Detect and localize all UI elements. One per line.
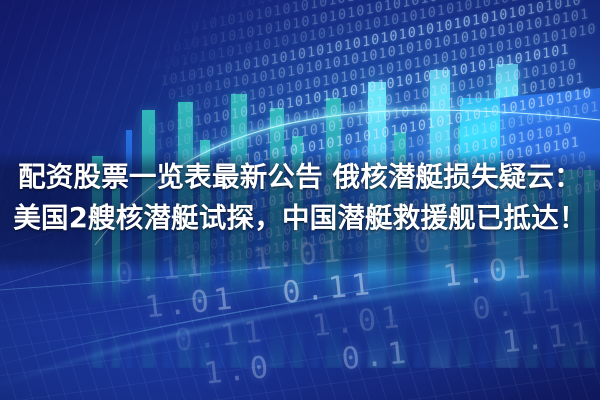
chart-bar	[112, 310, 120, 368]
chart-bar	[562, 310, 578, 368]
binary-row: 0101010101010101010101010101010101010101…	[158, 0, 600, 11]
chart-bar	[92, 310, 103, 368]
chart-bar	[584, 310, 595, 368]
chart-bar	[200, 310, 210, 368]
chart-bar	[231, 310, 247, 368]
chart-bar	[311, 310, 319, 368]
chart-bar	[254, 310, 263, 368]
chart-bar	[217, 310, 224, 368]
chart-bar	[430, 310, 450, 368]
chart-bar	[178, 310, 193, 368]
chart-bar	[478, 310, 488, 368]
binary-row: 1010101010101010101010101010101010101010…	[165, 0, 600, 26]
chart-bar	[142, 310, 155, 368]
chart-bar	[546, 310, 555, 368]
chart-bar	[414, 310, 423, 368]
bar-chart-reflection	[0, 308, 600, 368]
chart-bar	[458, 310, 470, 368]
binary-row: 0101010101010101010101010101010101010101…	[172, 0, 600, 40]
page-title: 配资股票一览表最新公告 俄核潜艇损失疑云：美国2艘核潜艇试探，中国潜艇救援舰已抵…	[0, 157, 600, 239]
news-banner: 0101010101010101010101010101010101010101…	[0, 0, 600, 400]
chart-bar	[326, 310, 341, 368]
chart-bar	[126, 310, 132, 368]
chart-bar	[350, 310, 360, 368]
chart-bar	[496, 310, 518, 368]
chart-bar	[163, 310, 172, 368]
chart-bar	[270, 310, 284, 368]
chart-bar	[394, 310, 406, 368]
chart-bar	[292, 310, 303, 368]
chart-bar	[526, 310, 538, 368]
chart-bar	[368, 310, 386, 368]
